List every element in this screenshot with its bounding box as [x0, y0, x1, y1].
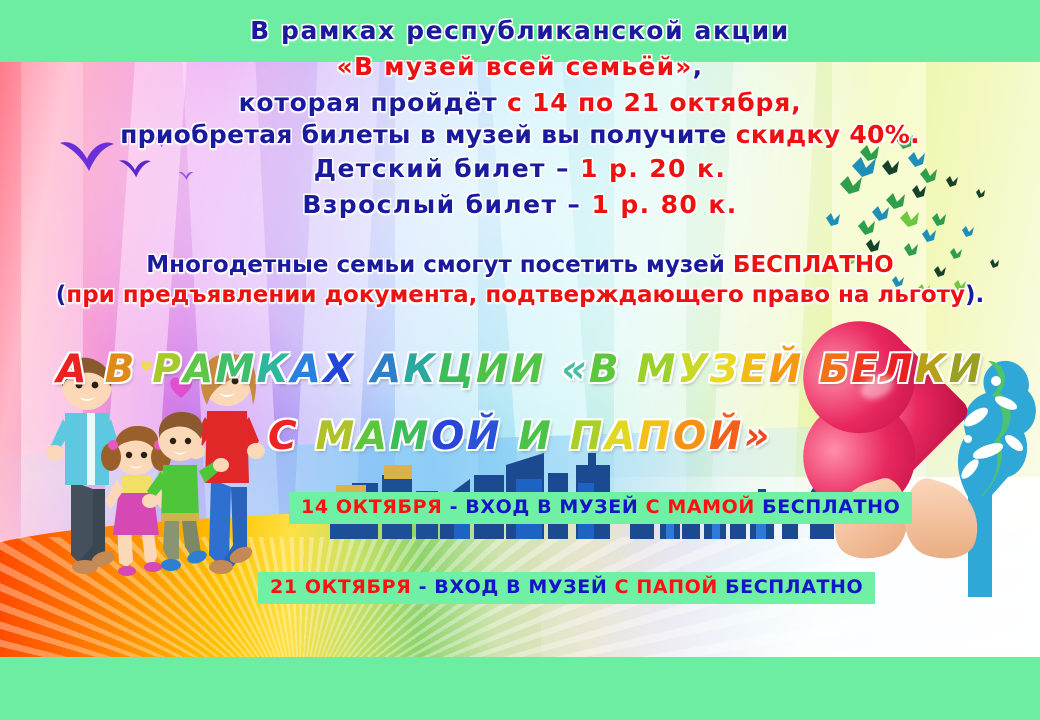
child-ticket-price: 1 р. 20 к.	[580, 154, 726, 183]
headline-letter: М	[215, 347, 256, 392]
headline-letter: М	[390, 414, 431, 459]
child-ticket-label: Детский билет –	[314, 154, 580, 183]
privilege-line-1: Многодетные семьи смогут посетить музей …	[0, 252, 1040, 278]
banner-14-october: 14 ОКТЯБРЯ - ВХОД В МУЗЕЙ С МАМОЙ БЕСПЛА…	[289, 492, 912, 524]
headline-letter: К	[256, 347, 290, 392]
banner-text-segment: - ВХОД В МУЗЕЙ	[442, 496, 645, 518]
headline-letter: У	[678, 347, 710, 392]
privilege-line-2: (при предъявлении документа, подтверждаю…	[0, 282, 1040, 308]
headline-letter	[89, 347, 105, 392]
headline-letter: М	[637, 347, 678, 392]
headline-letter: Б	[819, 347, 851, 392]
campaign-title: «В музей всей семьёй»	[337, 52, 693, 81]
headline-letter: Й	[709, 414, 744, 459]
bottom-green-band	[0, 657, 1040, 720]
headline-letter: П	[638, 414, 673, 459]
headline-letter	[355, 347, 371, 392]
headline-letter: И	[949, 347, 984, 392]
headline-letter: И	[511, 347, 546, 392]
headline-line-2: С МАМОЙ И ПАПОЙ»	[0, 414, 1040, 459]
banner-text-segment: БЕСПЛАТНО	[718, 576, 863, 598]
headline-letter: Е	[740, 347, 769, 392]
headline-letter: В	[105, 347, 137, 392]
headline-letter: «	[561, 347, 589, 392]
headline-letter	[554, 414, 570, 459]
headline-letter: А	[291, 347, 323, 392]
headline-letter: И	[518, 414, 553, 459]
banner-text-segment: 21 ОКТЯБРЯ	[270, 576, 411, 598]
headline-letter	[621, 347, 637, 392]
banner-text-segment: - ВХОД В МУЗЕЙ	[411, 576, 614, 598]
announcement-line-4: приобретая билеты в музей вы получите ск…	[0, 120, 1040, 149]
headline-letter: К	[915, 347, 949, 392]
headline-letter: О	[673, 414, 709, 459]
privilege-condition: при предъявлении документа, подтверждающ…	[66, 282, 965, 308]
discount-value: скидку 40%.	[736, 120, 920, 149]
dates-lead: которая пройдёт	[239, 88, 507, 117]
headline-letter	[804, 347, 820, 392]
headline-letter: И	[476, 347, 511, 392]
headline-letter: Р	[152, 347, 183, 392]
announcement-line-1: В рамках республиканской акции	[0, 16, 1040, 45]
announcement-line-1-text: В рамках республиканской акции	[250, 16, 790, 45]
headline-letter: Х	[323, 347, 355, 392]
headline-letter	[546, 347, 562, 392]
banner-text-segment: БЕСПЛАТНО	[755, 496, 900, 518]
heart-balloon-in-hands	[830, 362, 1000, 562]
headline-letter: Ц	[437, 347, 475, 392]
headline-letter: »	[744, 414, 772, 459]
headline-letter: А	[371, 347, 403, 392]
headline-letter: А	[183, 347, 215, 392]
headline-letter	[299, 414, 315, 459]
headline-letter: А	[56, 347, 88, 392]
headline-letter: Й	[769, 347, 804, 392]
headline-letter: К	[403, 347, 437, 392]
headline-letter: А	[357, 414, 390, 459]
announcement-line-3: которая пройдёт с 14 по 21 октября,	[0, 88, 1040, 117]
headline-letter: А	[605, 414, 638, 459]
campaign-title-comma: ,	[693, 52, 704, 81]
headline-letter	[502, 414, 518, 459]
privilege-lead: Многодетные семьи смогут посетить музей	[146, 252, 733, 278]
poster-canvas: В рамках республиканской акции «В музей …	[0, 0, 1040, 720]
headline-letter: С	[268, 414, 299, 459]
headline-letter: Й	[467, 414, 502, 459]
privilege-paren-open: (	[56, 282, 67, 308]
dates-value: с 14 по 21 октября,	[507, 88, 801, 117]
headline-letter: М	[315, 414, 356, 459]
privilege-paren-close: ).	[965, 282, 984, 308]
headline-letter: П	[570, 414, 605, 459]
headline-letter: О	[431, 414, 467, 459]
discount-lead: приобретая билеты в музей вы получите	[120, 120, 736, 149]
banner-text-segment: С ПАПОЙ	[615, 576, 718, 598]
announcement-line-2: «В музей всей семьёй»,	[0, 52, 1040, 81]
headline-letter	[137, 347, 153, 392]
banner-text-segment: 14 ОКТЯБРЯ	[301, 496, 442, 518]
banner-text-segment: С МАМОЙ	[646, 496, 755, 518]
privilege-free: БЕСПЛАТНО	[733, 252, 894, 278]
adult-ticket-line: Взрослый билет – 1 р. 80 к.	[0, 190, 1040, 219]
adult-ticket-price: 1 р. 80 к.	[591, 190, 737, 219]
headline-letter: З	[710, 347, 740, 392]
banner-21-october: 21 ОКТЯБРЯ - ВХОД В МУЗЕЙ С ПАПОЙ БЕСПЛА…	[258, 572, 875, 604]
child-ticket-line: Детский билет – 1 р. 20 к.	[0, 154, 1040, 183]
headline-letter: В	[589, 347, 621, 392]
adult-ticket-label: Взрослый билет –	[302, 190, 591, 219]
